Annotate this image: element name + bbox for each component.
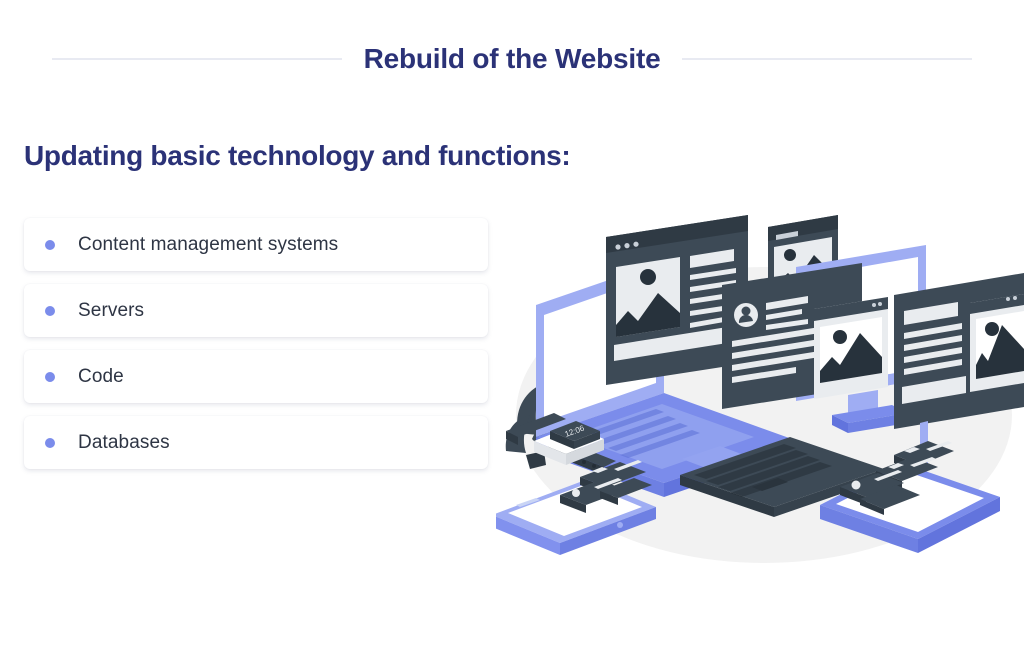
bullet-icon	[45, 306, 55, 316]
header-divider-left	[52, 58, 342, 60]
list-item[interactable]: Servers	[24, 284, 488, 337]
bullet-icon	[45, 438, 55, 448]
slide-header: Rebuild of the Website	[0, 38, 1024, 80]
header-divider-right	[682, 58, 972, 60]
list-item[interactable]: Code	[24, 350, 488, 403]
bullet-icon	[45, 372, 55, 382]
list-item-label: Databases	[78, 432, 170, 454]
list-item-label: Servers	[78, 300, 144, 322]
list-item[interactable]: Content management systems	[24, 218, 488, 271]
feature-list: Content management systems Servers Code …	[24, 218, 488, 482]
list-item-label: Code	[78, 366, 124, 388]
slide-root: Rebuild of the Website Updating basic te…	[0, 0, 1024, 649]
isometric-devices-illustration: 12:06	[496, 215, 1024, 625]
list-item-label: Content management systems	[78, 234, 338, 256]
list-item[interactable]: Databases	[24, 416, 488, 469]
bullet-icon	[45, 240, 55, 250]
section-heading: Updating basic technology and functions:	[24, 140, 570, 172]
page-title: Rebuild of the Website	[364, 43, 661, 75]
